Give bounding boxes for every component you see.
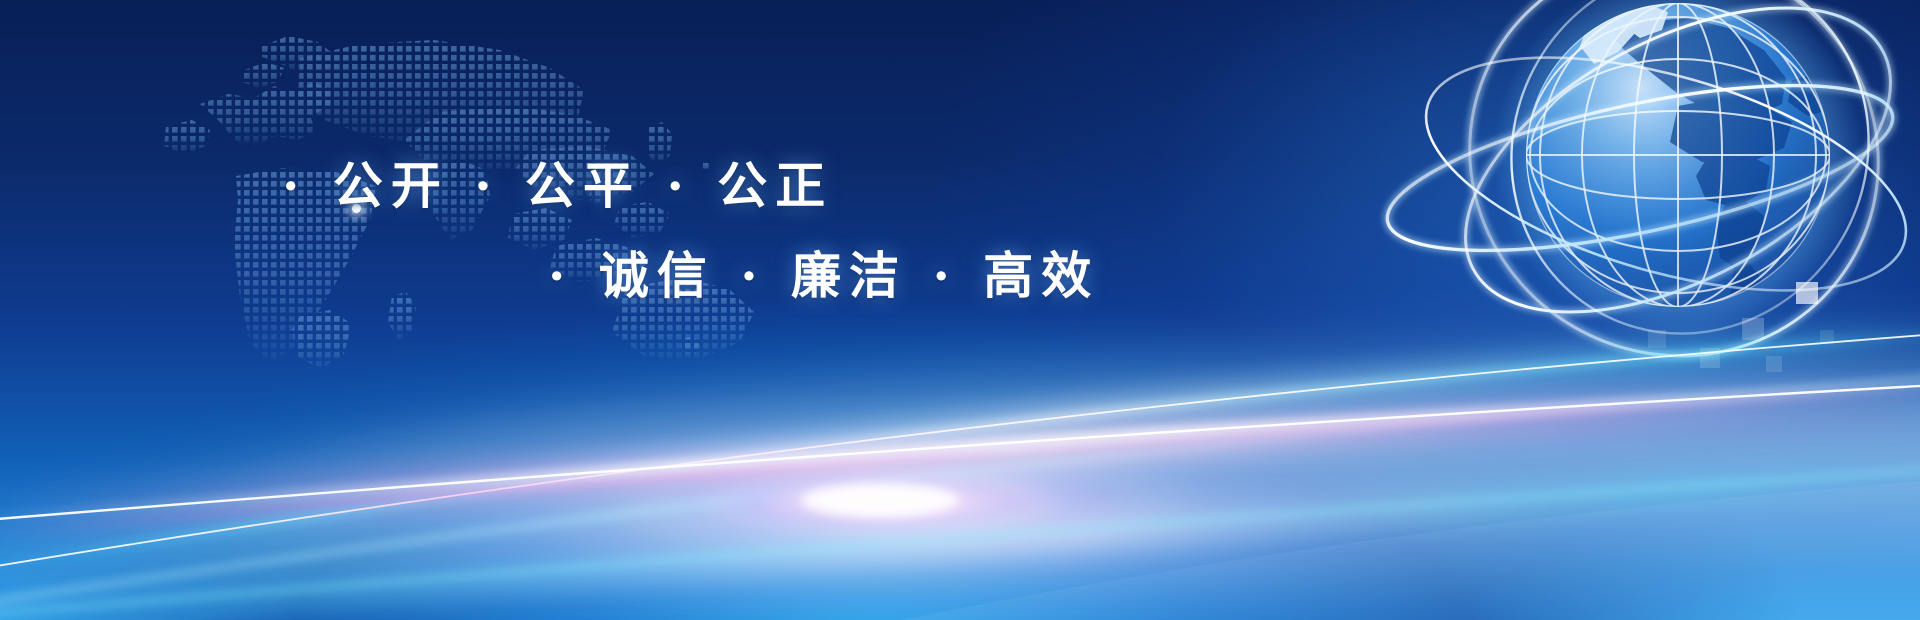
banner-root: · 公开 · 公平 · 公正 · 诚信 · 廉洁 · 高效 bbox=[0, 0, 1920, 620]
slogan-line-1: · 公开 · 公平 · 公正 bbox=[282, 146, 833, 218]
slogan-block: · 公开 · 公平 · 公正 · 诚信 · 廉洁 · 高效 bbox=[0, 0, 1250, 340]
light-streak-waves bbox=[0, 290, 1920, 620]
